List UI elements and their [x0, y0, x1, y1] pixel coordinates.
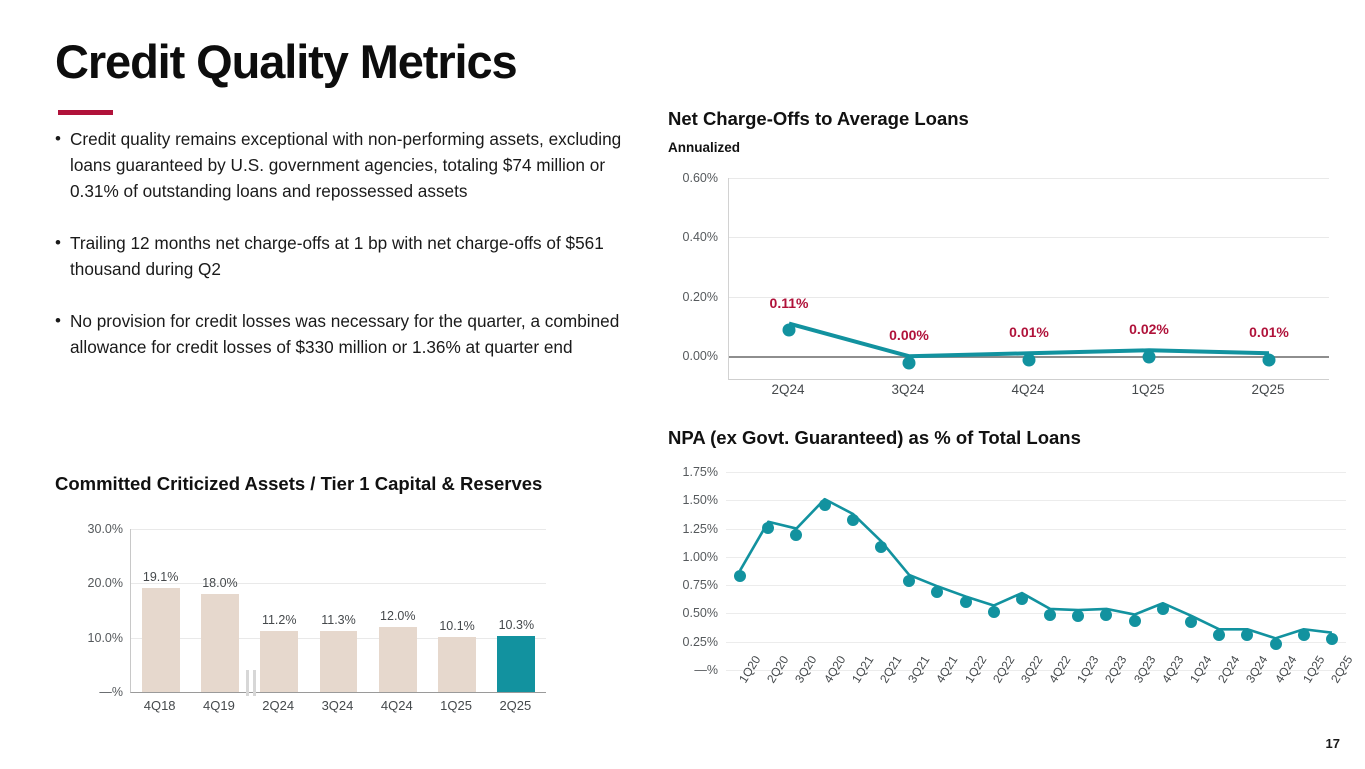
npa-data-point	[762, 522, 774, 534]
npa-data-point	[1100, 609, 1112, 621]
axis-break-marker	[246, 670, 250, 696]
npa-data-point	[847, 514, 859, 526]
npa-data-point	[1298, 629, 1310, 641]
bar-slot: 18.0%	[190, 529, 249, 692]
bar-chart-x-tick-label: 4Q19	[189, 698, 248, 713]
nco-x-tick-label: 1Q25	[1131, 382, 1164, 397]
bullet-marker-icon: •	[55, 126, 70, 204]
npa-y-tick-label: 0.50%	[660, 606, 718, 620]
bar-chart-plot-area: 19.1%18.0%11.2%11.3%12.0%10.1%10.3%	[130, 529, 546, 693]
npa-data-point	[1072, 610, 1084, 622]
npa-y-tick-label: 1.00%	[660, 550, 718, 564]
bar-chart-x-tick-label: 3Q24	[308, 698, 367, 713]
bar-chart-x-tick-label: 4Q24	[367, 698, 426, 713]
bullet-text: Credit quality remains exceptional with …	[70, 126, 625, 204]
nco-x-tick-label: 2Q24	[771, 382, 804, 397]
bullet-item: • No provision for credit losses was nec…	[55, 308, 625, 360]
bullet-item: • Credit quality remains exceptional wit…	[55, 126, 625, 204]
bullet-text: Trailing 12 months net charge-offs at 1 …	[70, 230, 625, 282]
nco-y-tick-label: 0.40%	[660, 230, 718, 244]
nco-y-tick-label: 0.20%	[660, 290, 718, 304]
npa-y-tick-label: —%	[660, 663, 718, 677]
bar-chart-x-tick-label: 1Q25	[426, 698, 485, 713]
npa-data-point	[931, 586, 943, 598]
nco-data-point	[1263, 353, 1276, 366]
bullet-list: • Credit quality remains exceptional wit…	[55, 126, 625, 386]
bar	[379, 627, 417, 692]
bar-chart-y-tick-label: 10.0%	[61, 631, 123, 645]
npa-data-point	[1185, 616, 1197, 628]
axis-break-marker	[253, 670, 257, 696]
bar-slot: 10.1%	[427, 529, 486, 692]
bullet-text: No provision for credit losses was neces…	[70, 308, 625, 360]
bar	[201, 594, 239, 692]
bar-chart-x-tick-label: 2Q25	[486, 698, 545, 713]
bullet-marker-icon: •	[55, 230, 70, 282]
page-number: 17	[1326, 736, 1340, 751]
left-column: Credit Quality Metrics • Credit quality …	[0, 0, 660, 769]
npa-data-point	[960, 596, 972, 608]
npa-data-point	[1213, 629, 1225, 641]
npa-data-point	[819, 499, 831, 511]
nco-plot-area: 0.11%0.00%0.01%0.02%0.01%	[728, 178, 1329, 380]
bar-chart-x-tick-label: 4Q18	[130, 698, 189, 713]
npa-y-tick-label: 1.25%	[660, 522, 718, 536]
npa-y-tick-label: 0.25%	[660, 635, 718, 649]
bar	[438, 637, 476, 692]
bar-slot: 19.1%	[131, 529, 190, 692]
npa-data-point	[988, 606, 1000, 618]
bar	[497, 636, 535, 692]
title-accent-rule	[58, 110, 113, 115]
bullet-item: • Trailing 12 months net charge-offs at …	[55, 230, 625, 282]
page-title: Credit Quality Metrics	[55, 34, 517, 89]
bar-slot: 11.2%	[250, 529, 309, 692]
npa-data-point	[1270, 638, 1282, 650]
bar-chart-x-tick-label: 2Q24	[249, 698, 308, 713]
bar-value-label: 11.3%	[309, 613, 368, 627]
npa-chart: 1.75%1.50%1.25%1.00%0.75%0.50%0.25%—% 1Q…	[660, 466, 1360, 766]
committed-criticized-assets-chart: 30.0%20.0%10.0%—% 19.1%18.0%11.2%11.3%12…	[55, 520, 555, 720]
nco-data-point	[783, 324, 796, 337]
bar-value-label: 11.2%	[250, 613, 309, 627]
npa-data-point	[1326, 633, 1338, 645]
npa-y-tick-label: 1.50%	[660, 493, 718, 507]
net-charge-offs-chart: 0.60%0.40%0.20%0.00% 0.11%0.00%0.01%0.02…	[660, 170, 1332, 385]
net-charge-offs-chart-title: Net Charge-Offs to Average Loans	[668, 108, 969, 130]
bar-chart-y-tick-label: —%	[61, 685, 123, 699]
nco-data-point	[1143, 350, 1156, 363]
bar-chart-y-tick-label: 20.0%	[61, 576, 123, 590]
bar-chart-y-tick-label: 30.0%	[61, 522, 123, 536]
nco-y-tick-label: 0.60%	[660, 171, 718, 185]
npa-plot-area	[726, 472, 1346, 670]
npa-data-point	[1157, 603, 1169, 615]
nco-data-label: 0.02%	[1129, 321, 1169, 337]
nco-data-point	[1023, 353, 1036, 366]
npa-y-tick-label: 0.75%	[660, 578, 718, 592]
bar-slot: 10.3%	[487, 529, 546, 692]
bar-value-label: 12.0%	[368, 609, 427, 623]
npa-chart-title: NPA (ex Govt. Guaranteed) as % of Total …	[668, 427, 1081, 449]
bar-chart-title: Committed Criticized Assets / Tier 1 Cap…	[55, 473, 542, 495]
net-charge-offs-chart-subtitle: Annualized	[668, 140, 740, 155]
nco-y-tick-label: 0.00%	[660, 349, 718, 363]
nco-data-label: 0.11%	[770, 295, 809, 311]
nco-data-label: 0.00%	[889, 327, 929, 343]
nco-data-label: 0.01%	[1249, 324, 1289, 340]
npa-data-point	[903, 575, 915, 587]
bar-value-label: 10.3%	[487, 618, 546, 632]
nco-data-label: 0.01%	[1009, 324, 1049, 340]
bar-value-label: 18.0%	[190, 576, 249, 590]
npa-data-point	[790, 529, 802, 541]
npa-data-point	[1241, 629, 1253, 641]
bar-value-label: 10.1%	[427, 619, 486, 633]
bar	[260, 631, 298, 692]
npa-y-tick-label: 1.75%	[660, 465, 718, 479]
nco-series-line	[729, 178, 1329, 380]
nco-data-point	[903, 356, 916, 369]
npa-data-point	[734, 570, 746, 582]
npa-data-point	[1129, 615, 1141, 627]
bar	[320, 631, 358, 692]
bullet-marker-icon: •	[55, 308, 70, 360]
bar-value-label: 19.1%	[131, 570, 190, 584]
bar-slot: 12.0%	[368, 529, 427, 692]
bar	[142, 588, 180, 692]
nco-x-tick-label: 2Q25	[1251, 382, 1284, 397]
npa-data-point	[1016, 593, 1028, 605]
npa-data-point	[875, 541, 887, 553]
right-column: Net Charge-Offs to Average Loans Annuali…	[660, 0, 1365, 769]
npa-data-point	[1044, 609, 1056, 621]
nco-x-tick-label: 3Q24	[891, 382, 924, 397]
bar-slot: 11.3%	[309, 529, 368, 692]
nco-x-tick-label: 4Q24	[1011, 382, 1044, 397]
